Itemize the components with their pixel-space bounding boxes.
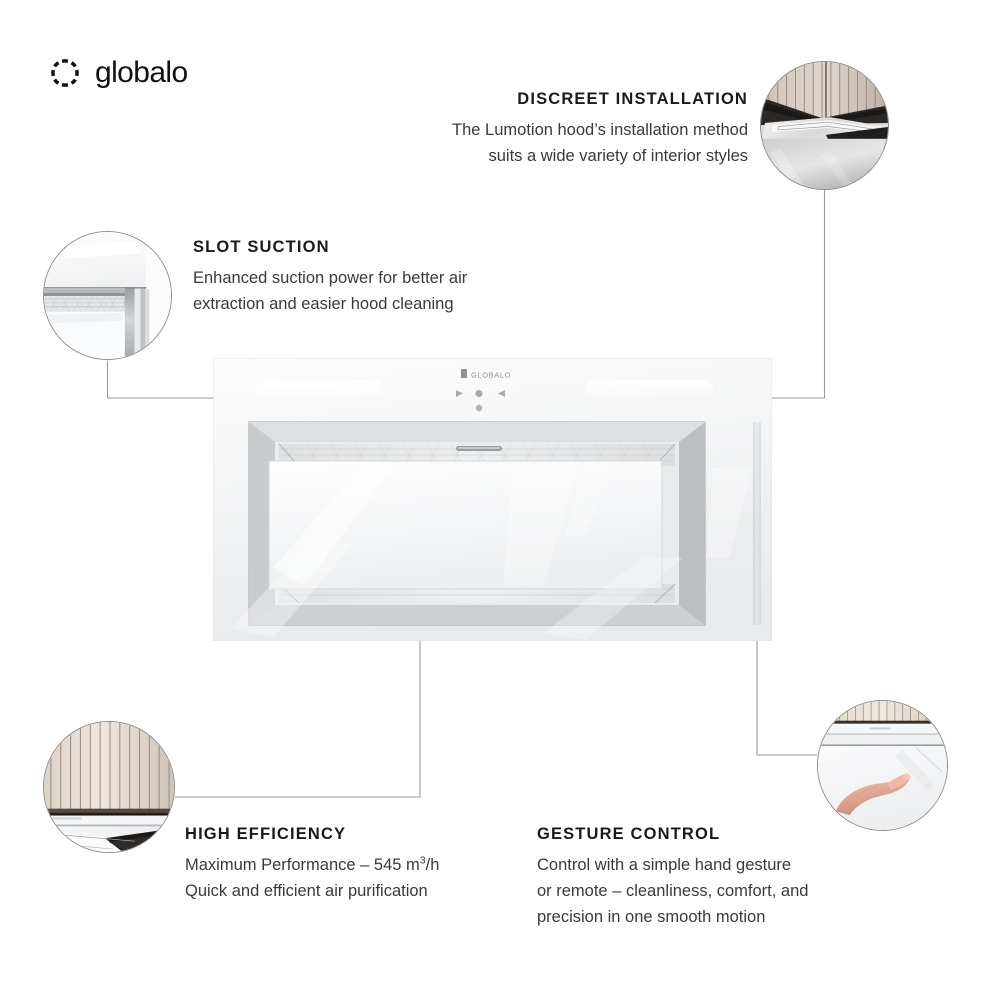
feature-gesture-control: GESTURE CONTROL Control with a simple ha… (537, 825, 808, 931)
feature-title: HIGH EFFICIENCY (185, 825, 439, 844)
infographic-canvas: globalo (0, 0, 1000, 1000)
feature-body: The Lumotion hood’s installation method … (452, 118, 748, 170)
feature-slot-suction: SLOT SUCTION Enhanced suction power for … (193, 238, 467, 318)
photo-hood-ceiling-slat (760, 61, 889, 190)
feature-body: Enhanced suction power for better air ex… (193, 266, 467, 318)
feature-body: Control with a simple hand gesture or re… (537, 853, 808, 931)
feature-high-efficiency: HIGH EFFICIENCY Maximum Performance – 54… (185, 825, 439, 905)
feature-title: SLOT SUCTION (193, 238, 467, 257)
feature-title: DISCREET INSTALLATION (452, 90, 748, 109)
feature-body-line: Quick and efficient air purification (185, 879, 439, 905)
feature-body-line: Enhanced suction power for better air (193, 266, 467, 292)
svg-text:GLOBALO: GLOBALO (471, 371, 511, 380)
feature-body-line: The Lumotion hood’s installation method (452, 118, 748, 144)
feature-body-line: Maximum Performance – 545 m3/h (185, 853, 439, 879)
photo-hood-under-slats (43, 721, 175, 853)
product-image-lumotion-hood: GLOBALO (213, 358, 772, 641)
feature-body-line: extraction and easier hood cleaning (193, 292, 467, 318)
feature-body: Maximum Performance – 545 m3/h Quick and… (185, 853, 439, 905)
photo-hood-slot-closeup (43, 231, 172, 360)
feature-body-line: or remote – cleanliness, comfort, and (537, 879, 808, 905)
feature-title: GESTURE CONTROL (537, 825, 808, 844)
feature-body-line: suits a wide variety of interior styles (452, 144, 748, 170)
performance-text: Maximum Performance – 545 m (185, 856, 420, 874)
feature-body-line: Control with a simple hand gesture (537, 853, 808, 879)
performance-unit-suffix: /h (426, 856, 440, 874)
feature-body-line: precision in one smooth motion (537, 905, 808, 931)
feature-discreet-installation: DISCREET INSTALLATION The Lumotion hood’… (452, 90, 748, 170)
photo-hand-gesture-under-hood (817, 700, 948, 831)
